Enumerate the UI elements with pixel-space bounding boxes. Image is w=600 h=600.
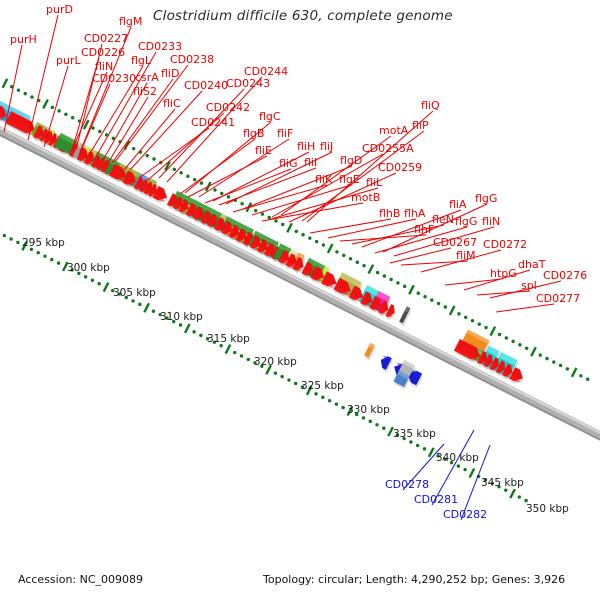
upper-ruler-minor-tick	[518, 343, 521, 346]
upper-ruler-minor-tick	[356, 261, 359, 264]
ruler-minor-tick	[9, 237, 12, 240]
upper-ruler-minor-tick	[559, 364, 562, 367]
upper-ruler-minor-tick	[403, 285, 406, 288]
ruler-minor-tick	[524, 499, 527, 502]
upper-ruler-minor-tick	[173, 168, 176, 171]
gene-label-forward[interactable]: fliJ	[320, 141, 333, 152]
upper-ruler-minor-tick	[342, 254, 345, 257]
upper-ruler-minor-tick	[430, 298, 433, 301]
gene-label-forward[interactable]: flgL	[131, 55, 151, 66]
upper-ruler-minor-tick	[281, 223, 284, 226]
scale-ruler-label: 315 kbp	[207, 333, 250, 345]
ruler-minor-tick	[416, 444, 419, 447]
scale-ruler-label: 330 kbp	[347, 404, 390, 416]
upper-ruler-minor-tick	[24, 92, 27, 95]
gene-label-forward[interactable]: fliP	[412, 120, 429, 131]
ruler-minor-tick	[375, 423, 378, 426]
gene-label-reverse[interactable]: CD0282	[443, 509, 487, 520]
ruler-minor-tick	[43, 254, 46, 257]
upper-ruler-major-tick	[327, 243, 334, 253]
gene-label-forward[interactable]: fliN	[95, 61, 113, 72]
ruler-minor-tick	[240, 354, 243, 357]
scale-ruler-label: 320 kbp	[254, 356, 297, 368]
gene-label-forward[interactable]: CD0226	[81, 47, 125, 58]
leader-line-forward	[310, 219, 391, 233]
gene-label-forward[interactable]: CD0243	[226, 78, 270, 89]
leader-line-forward	[262, 203, 363, 221]
leader-line-forward	[108, 97, 148, 163]
upper-ruler-minor-tick	[267, 216, 270, 219]
upper-ruler-minor-tick	[498, 333, 501, 336]
ruler-minor-tick	[84, 275, 87, 278]
scale-ruler-label: 295 kbp	[22, 237, 65, 249]
upper-ruler-major-tick	[2, 78, 9, 88]
page-title: Clostridium difficile 630, complete geno…	[153, 8, 453, 24]
upper-ruler-minor-tick	[471, 319, 474, 322]
ruler-major-tick	[469, 468, 476, 478]
gene-label-forward[interactable]: CD0272	[483, 239, 527, 250]
ruler-minor-tick	[37, 251, 40, 254]
upper-ruler-minor-tick	[57, 109, 60, 112]
gene-label-forward[interactable]: CD0227	[84, 33, 128, 44]
upper-ruler-minor-tick	[30, 95, 33, 98]
upper-ruler-minor-tick	[525, 347, 528, 350]
gene-label-forward[interactable]: csrA	[135, 72, 159, 83]
upper-ruler-minor-tick	[539, 353, 542, 356]
upper-ruler-minor-tick	[240, 202, 243, 205]
gene-label-reverse[interactable]: CD0281	[414, 494, 458, 505]
upper-ruler-major-tick	[449, 305, 456, 315]
upper-ruler-minor-tick	[464, 316, 467, 319]
ruler-minor-tick	[314, 392, 317, 395]
ruler-minor-tick	[274, 371, 277, 374]
ruler-minor-tick	[57, 261, 60, 264]
gene-label-forward[interactable]: fliM	[456, 250, 475, 261]
scale-ruler-label: 300 kbp	[67, 262, 110, 274]
gene-label-forward[interactable]: CD0230	[92, 73, 136, 84]
genome-axis-line	[0, 120, 600, 445]
upper-ruler-minor-tick	[213, 188, 216, 191]
ruler-minor-tick	[463, 468, 466, 471]
upper-ruler-minor-tick	[579, 374, 582, 377]
upper-ruler-major-tick	[489, 326, 496, 336]
upper-ruler-minor-tick	[322, 243, 325, 246]
upper-ruler-minor-tick	[186, 175, 189, 178]
ruler-minor-tick	[3, 234, 6, 237]
scale-ruler-label: 335 kbp	[393, 428, 436, 440]
upper-ruler-minor-tick	[383, 274, 386, 277]
ruler-major-tick	[103, 282, 110, 292]
ruler-minor-tick	[50, 258, 53, 261]
gene-label-forward[interactable]: CD0240	[184, 80, 228, 91]
ruler-minor-tick	[423, 447, 426, 450]
leader-line-forward	[496, 304, 554, 312]
upper-ruler-minor-tick	[396, 281, 399, 284]
upper-ruler-minor-tick	[179, 171, 182, 174]
upper-ruler-minor-tick	[478, 322, 481, 325]
upper-ruler-minor-tick	[566, 367, 569, 370]
upper-ruler-minor-tick	[511, 340, 514, 343]
upper-ruler-minor-tick	[552, 360, 555, 363]
gene-label-forward[interactable]: CD0233	[138, 41, 182, 52]
gene-label-forward[interactable]: motB	[351, 192, 380, 203]
gene-label-forward[interactable]: dhaT	[518, 259, 545, 270]
gene-label-reverse[interactable]: CD0278	[385, 479, 429, 490]
ruler-minor-tick	[328, 399, 331, 402]
gene-label-forward[interactable]: flgC	[259, 111, 281, 122]
ruler-minor-tick	[280, 375, 283, 378]
upper-ruler-minor-tick	[315, 240, 318, 243]
gene-label-forward[interactable]: fliI	[304, 157, 317, 168]
gene-label-forward[interactable]: flgG	[475, 193, 497, 204]
upper-ruler-minor-tick	[220, 192, 223, 195]
gene-label-forward[interactable]: CD0244	[244, 66, 288, 77]
upper-ruler-minor-tick	[335, 250, 338, 253]
topology-summary-text: Topology: circular; Length: 4,290,252 bp…	[263, 573, 565, 586]
upper-ruler-minor-tick	[362, 264, 365, 267]
ruler-minor-tick	[341, 406, 344, 409]
ruler-minor-tick	[16, 241, 19, 244]
upper-ruler-minor-tick	[51, 106, 54, 109]
ruler-minor-tick	[294, 382, 297, 385]
gene-label-forward[interactable]: fliL	[366, 177, 382, 188]
upper-ruler-minor-tick	[64, 113, 67, 116]
upper-ruler-minor-tick	[200, 181, 203, 184]
gene-label-forward[interactable]: fliF	[277, 128, 293, 139]
ruler-minor-tick	[152, 310, 155, 313]
ruler-major-tick	[225, 344, 232, 354]
upper-ruler-major-tick	[530, 347, 537, 357]
upper-ruler-minor-tick	[17, 88, 20, 91]
ruler-minor-tick	[362, 416, 365, 419]
ruler-minor-tick	[179, 323, 182, 326]
scale-ruler-label: 350 kbp	[526, 503, 569, 515]
gene-label-forward[interactable]: CD0276	[543, 270, 587, 281]
gene-label-forward[interactable]: CD0267	[433, 237, 477, 248]
upper-ruler-minor-tick	[505, 336, 508, 339]
ruler-minor-tick	[321, 396, 324, 399]
ruler-minor-tick	[233, 351, 236, 354]
scale-ruler-label: 305 kbp	[113, 287, 156, 299]
gene-label-forward[interactable]: flhB	[379, 208, 400, 219]
ruler-minor-tick	[287, 378, 290, 381]
accession-text: Accession: NC_009089	[18, 573, 143, 586]
reverse-strand-features	[363, 343, 424, 390]
gene-label-forward[interactable]: purD	[46, 4, 73, 15]
gene-label-forward[interactable]: flgB	[243, 128, 264, 139]
gene-label-forward[interactable]: fliQ	[421, 100, 440, 111]
gene-label-forward[interactable]: fliC	[163, 98, 181, 109]
ruler-minor-tick	[138, 303, 141, 306]
upper-ruler-minor-tick	[254, 209, 257, 212]
scale-ruler-label: 345 kbp	[481, 477, 524, 489]
ruler-major-tick	[143, 303, 150, 313]
genome-map-viewer: Clostridium difficile 630, complete geno…	[0, 0, 600, 600]
upper-ruler-minor-tick	[71, 116, 74, 119]
upper-ruler-minor-tick	[98, 130, 101, 133]
gene-label-forward[interactable]: fleN	[432, 214, 454, 225]
gene-label-forward[interactable]: purH	[10, 34, 37, 45]
gene-label-forward[interactable]: fliH	[297, 141, 315, 152]
gene-label-forward[interactable]: fliS2	[133, 86, 157, 97]
upper-ruler-minor-tick	[146, 154, 149, 157]
ruler-minor-tick	[382, 427, 385, 430]
upper-ruler-minor-tick	[417, 292, 420, 295]
gene-label-forward[interactable]: fliG	[279, 158, 298, 169]
gene-arrow[interactable]	[377, 354, 394, 372]
ruler-major-tick	[184, 323, 191, 333]
leader-line-forward	[205, 169, 291, 203]
upper-ruler-minor-tick	[437, 302, 440, 305]
gene-label-forward[interactable]: CD0238	[170, 54, 214, 65]
gene-label-forward[interactable]: fliD	[161, 68, 179, 79]
upper-ruler-minor-tick	[132, 147, 135, 150]
ruler-minor-tick	[369, 420, 372, 423]
gene-label-forward[interactable]: CD0259	[378, 162, 422, 173]
gene-label-forward[interactable]: fliN	[482, 216, 500, 227]
ruler-minor-tick	[457, 464, 460, 467]
upper-ruler-minor-tick	[484, 326, 487, 329]
upper-ruler-major-tick	[368, 264, 375, 274]
upper-ruler-major-tick	[571, 367, 578, 377]
gene-label-forward[interactable]: spl	[521, 280, 537, 291]
upper-ruler-major-tick	[408, 285, 415, 295]
ruler-minor-tick	[409, 440, 412, 443]
upper-ruler-minor-tick	[295, 230, 298, 233]
gene-box[interactable]	[398, 306, 412, 326]
upper-ruler-minor-tick	[376, 271, 379, 274]
upper-ruler-minor-tick	[261, 212, 264, 215]
upper-ruler-minor-tick	[349, 257, 352, 260]
upper-ruler-major-tick	[83, 120, 90, 130]
ruler-minor-tick	[91, 279, 94, 282]
gene-label-forward[interactable]: flhA	[404, 208, 425, 219]
upper-ruler-minor-tick	[152, 157, 155, 160]
ruler-minor-tick	[518, 495, 521, 498]
upper-ruler-major-tick	[286, 223, 293, 233]
upper-ruler-minor-tick	[308, 236, 311, 239]
upper-ruler-minor-tick	[301, 233, 304, 236]
gene-label-forward[interactable]: fliK	[315, 174, 332, 185]
gene-label-forward[interactable]: fliA	[449, 199, 467, 210]
gene-label-forward[interactable]: CD0241	[191, 117, 235, 128]
upper-ruler-minor-tick	[389, 278, 392, 281]
scale-ruler-label: 340 kbp	[436, 452, 479, 464]
upper-ruler-minor-tick	[545, 357, 548, 360]
upper-ruler-minor-tick	[193, 178, 196, 181]
upper-ruler-minor-tick	[457, 312, 460, 315]
gene-label-forward[interactable]: CD0277	[536, 293, 580, 304]
gene-label-forward[interactable]: CD0242	[206, 102, 250, 113]
upper-ruler-major-tick	[42, 99, 49, 109]
upper-ruler-minor-tick	[444, 305, 447, 308]
ruler-minor-tick	[335, 402, 338, 405]
leader-line-forward	[233, 185, 327, 212]
ruler-minor-tick	[192, 330, 195, 333]
genome-map-graphics	[0, 0, 600, 600]
gene-label-forward[interactable]: flgG	[455, 216, 477, 227]
scale-ruler-label: 325 kbp	[301, 380, 344, 392]
gene-label-forward[interactable]: purL	[56, 55, 81, 66]
ruler-minor-tick	[131, 299, 134, 302]
upper-ruler-minor-tick	[274, 219, 277, 222]
ruler-major-tick	[509, 489, 516, 499]
upper-ruler-minor-tick	[586, 378, 589, 381]
ruler-minor-tick	[199, 334, 202, 337]
leader-line-forward	[390, 248, 451, 263]
gene-label-forward[interactable]: flgM	[119, 16, 142, 27]
gene-label-forward[interactable]: motA	[379, 125, 408, 136]
ruler-minor-tick	[97, 282, 100, 285]
gene-label-forward[interactable]: htpG	[490, 268, 517, 279]
gene-box[interactable]	[363, 343, 376, 360]
upper-ruler-minor-tick	[227, 195, 230, 198]
upper-ruler-minor-tick	[423, 295, 426, 298]
gene-label-forward[interactable]: CD0255A	[362, 143, 414, 154]
ruler-minor-tick	[247, 358, 250, 361]
scale-ruler-label: 310 kbp	[160, 311, 203, 323]
gene-label-forward[interactable]: flgD	[340, 155, 362, 166]
gene-label-forward[interactable]: fliE	[255, 145, 272, 156]
gene-label-forward[interactable]: flgE	[339, 174, 360, 185]
